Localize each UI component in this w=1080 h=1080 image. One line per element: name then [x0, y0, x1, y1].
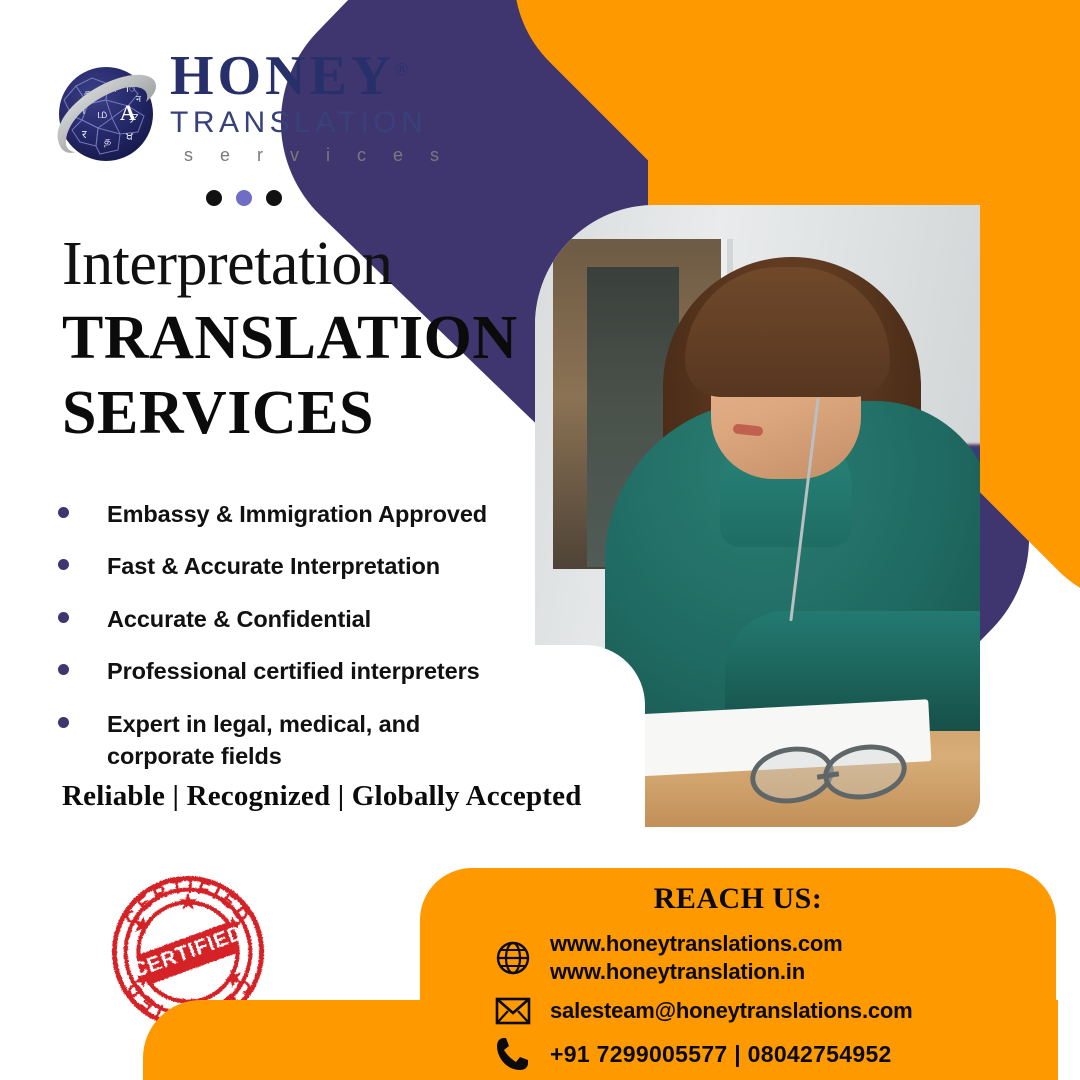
- headline-bold-line-2: SERVICES: [62, 380, 532, 447]
- contact-row-email[interactable]: salesteam@honeytranslations.com: [492, 990, 913, 1032]
- page-title: Interpretation TRANSLATION SERVICES: [62, 232, 532, 447]
- list-item: Professional certified interpreters: [58, 655, 538, 687]
- logo-honey-label: HONEY: [170, 45, 395, 107]
- list-item-label: Expert in legal, medical, and corporate …: [107, 708, 457, 773]
- contact-row-website[interactable]: www.honeytranslations.com www.honeytrans…: [492, 930, 842, 985]
- list-item: Accurate & Confidential: [58, 603, 538, 635]
- website-url-1: www.honeytranslations.com: [550, 931, 842, 956]
- logo-services-text: s e r v i c e s: [170, 145, 460, 166]
- dot-3: [266, 190, 282, 206]
- website-url-2: www.honeytranslation.in: [550, 959, 805, 984]
- decorative-dots: [206, 190, 282, 206]
- bullet-dot-icon: [58, 717, 69, 728]
- globe-languages-icon: க আ ि અ ம न ア र த ਖ A: [52, 56, 160, 164]
- features-list: Embassy & Immigration Approved Fast & Ac…: [58, 498, 538, 793]
- envelope-icon: [492, 990, 534, 1032]
- dot-1: [206, 190, 222, 206]
- svg-text:A: A: [120, 100, 136, 125]
- registered-mark-icon: ®: [395, 59, 408, 78]
- list-item: Expert in legal, medical, and corporate …: [58, 708, 538, 773]
- dot-2: [236, 190, 252, 206]
- tagline-text: Reliable | Recognized | Globally Accepte…: [62, 780, 582, 813]
- bullet-dot-icon: [58, 612, 69, 623]
- svg-text:र: र: [82, 128, 87, 141]
- brand-logo[interactable]: க আ ि અ ம न ア र த ਖ A HONEY® TRANSLATION…: [52, 48, 452, 178]
- list-item: Embassy & Immigration Approved: [58, 498, 538, 530]
- bullet-dot-icon: [58, 664, 69, 675]
- contact-row-phone[interactable]: +91 7299005577 | 08042754952: [492, 1033, 892, 1075]
- headline-script-line: Interpretation: [62, 232, 532, 297]
- svg-text:ம: ம: [97, 107, 107, 122]
- globe-icon: [492, 937, 534, 979]
- list-item-label: Fast & Accurate Interpretation: [107, 550, 440, 582]
- logo-wordmark: HONEY® TRANSLATION s e r v i c e s: [170, 48, 460, 166]
- website-lines: www.honeytranslations.com www.honeytrans…: [550, 930, 842, 985]
- phone-icon: [492, 1033, 534, 1075]
- reach-us-heading: REACH US:: [420, 882, 1056, 916]
- list-item-label: Accurate & Confidential: [107, 603, 371, 635]
- list-item-label: Professional certified interpreters: [107, 655, 480, 687]
- flyer-canvas: க আ ि અ ம न ア र த ਖ A HONEY® TRANSLATION…: [0, 0, 1080, 1080]
- bullet-dot-icon: [58, 559, 69, 570]
- svg-text:ਖ: ਖ: [125, 130, 134, 143]
- bullet-dot-icon: [58, 507, 69, 518]
- svg-text:த: த: [104, 134, 111, 147]
- list-item: Fast & Accurate Interpretation: [58, 550, 538, 582]
- headline-bold-line-1: TRANSLATION: [62, 305, 532, 372]
- list-item-label: Embassy & Immigration Approved: [107, 498, 487, 530]
- logo-honey-text: HONEY®: [170, 48, 408, 104]
- email-address: salesteam@honeytranslations.com: [550, 997, 913, 1025]
- phone-numbers: +91 7299005577 | 08042754952: [550, 1040, 892, 1069]
- logo-translation-text: TRANSLATION: [170, 106, 460, 141]
